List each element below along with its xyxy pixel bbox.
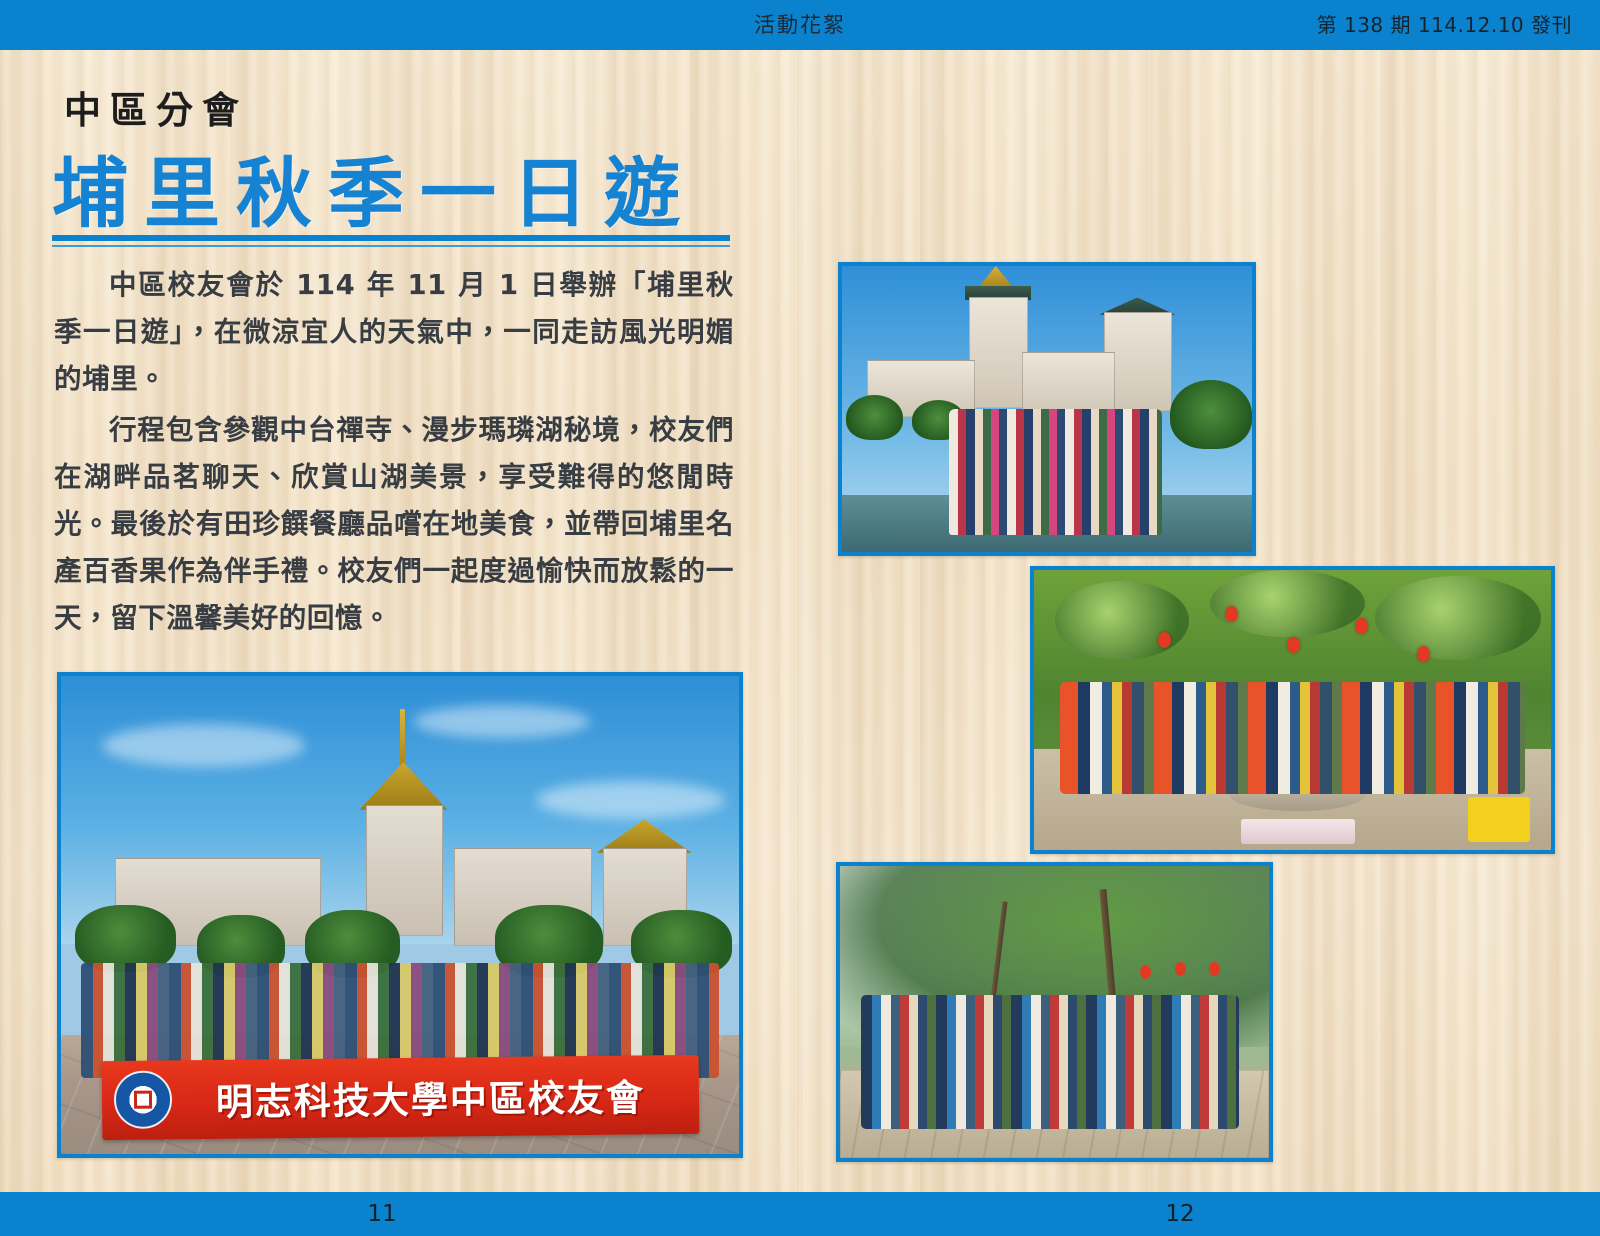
banner-text: 明志科技大學中區校友會 bbox=[171, 1068, 698, 1128]
photo-temple-group-content bbox=[842, 266, 1252, 552]
photo-picnic-content bbox=[1034, 570, 1551, 850]
cloud bbox=[102, 724, 305, 767]
photo-forest-content bbox=[840, 866, 1269, 1158]
foliage bbox=[1055, 581, 1189, 659]
red-lantern bbox=[1175, 962, 1186, 976]
article-paragraph-1: 中區校友會於 114 年 11 月 1 日舉辦「埔里秋季一日遊」，在微涼宜人的天… bbox=[54, 262, 734, 403]
photo-temple-banner-content: 明志科技大學中區校友會 bbox=[61, 676, 739, 1154]
foliage bbox=[1375, 576, 1540, 660]
header-issue-info: 第 138 期 114.12.10 發刊 bbox=[1317, 0, 1572, 50]
alumni-banner: 明志科技大學中區校友會 bbox=[101, 1055, 698, 1140]
red-lantern bbox=[1355, 618, 1368, 634]
photo-forest bbox=[836, 862, 1273, 1162]
title-divider bbox=[52, 235, 730, 247]
foliage bbox=[1210, 570, 1365, 637]
school-seal-icon bbox=[113, 1071, 172, 1130]
photo-temple-group bbox=[838, 262, 1256, 556]
group-of-alumni bbox=[861, 995, 1239, 1129]
temple-center-hall bbox=[1022, 352, 1114, 417]
group-of-alumni bbox=[949, 409, 1162, 535]
magazine-spread: 活動花絮 第 138 期 114.12.10 發刊 中區分會 埔里秋季一日遊 中… bbox=[0, 0, 1600, 1236]
footer-band: 11 12 bbox=[0, 1192, 1600, 1236]
page-number-right: 12 bbox=[1120, 1192, 1240, 1236]
article-body: 中區校友會於 114 年 11 月 1 日舉辦「埔里秋季一日遊」，在微涼宜人的天… bbox=[54, 262, 734, 646]
red-lantern bbox=[1158, 632, 1171, 648]
header-band: 活動花絮 第 138 期 114.12.10 發刊 bbox=[0, 0, 1600, 50]
tree bbox=[1170, 380, 1252, 449]
food-tray bbox=[1241, 819, 1355, 844]
group-of-alumni bbox=[1060, 682, 1525, 794]
page-number-left: 11 bbox=[322, 1192, 442, 1236]
article-kicker: 中區分會 bbox=[64, 80, 248, 134]
photo-temple-banner: 明志科技大學中區校友會 bbox=[57, 672, 743, 1158]
tree bbox=[846, 395, 903, 441]
temple-spire bbox=[400, 709, 405, 766]
red-lantern bbox=[1417, 646, 1430, 662]
yellow-chair bbox=[1468, 797, 1530, 842]
divider-thin-line bbox=[52, 245, 730, 247]
cloud bbox=[414, 705, 590, 738]
article-paragraph-2: 行程包含參觀中台禪寺、漫步瑪璘湖秘境，校友們在湖畔品茗聊天、欣賞山湖美景，享受難… bbox=[54, 407, 734, 642]
photo-picnic bbox=[1030, 566, 1555, 854]
temple-main-tower bbox=[969, 297, 1028, 408]
article-headline: 埔里秋季一日遊 bbox=[52, 132, 696, 242]
